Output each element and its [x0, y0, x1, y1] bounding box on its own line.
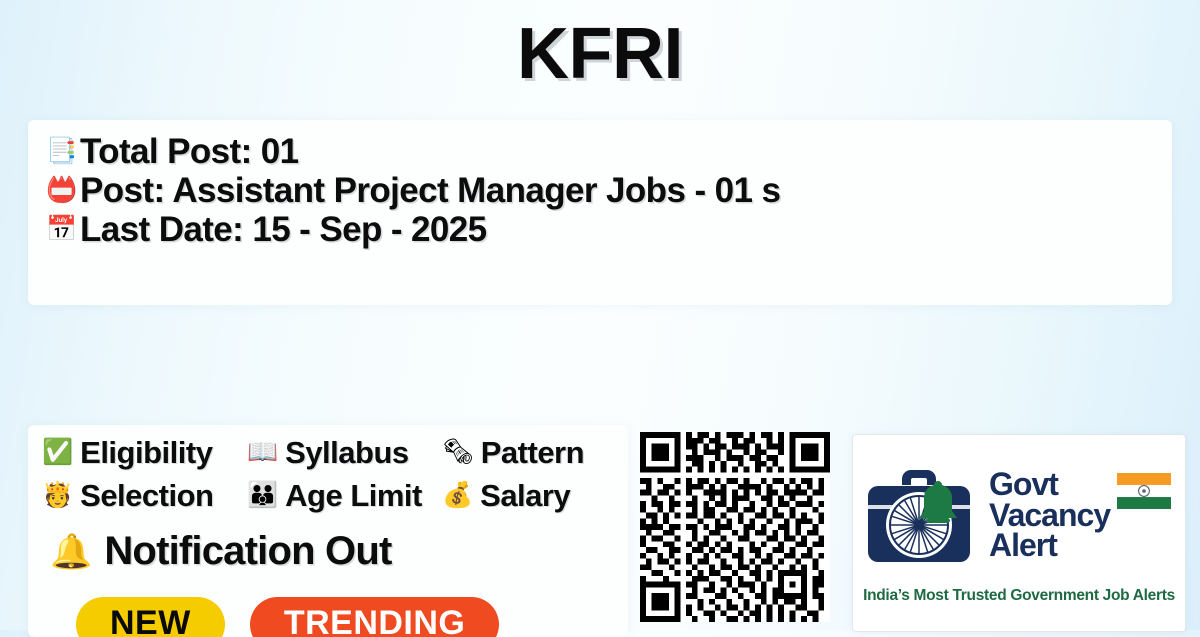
list-item: 📑 Total Post: 01 [46, 132, 1172, 171]
feature-selection: 🫅 Selection [42, 478, 247, 514]
feature-salary: 💰 Salary [442, 478, 584, 514]
post-name-text: Post: Assistant Project Manager Jobs - 0… [80, 171, 780, 211]
qr-code[interactable] [640, 432, 830, 622]
logo-wordmark-block: Govt Vacancy Alert [989, 469, 1185, 561]
logo-line-1: Govt [989, 469, 1110, 500]
logo-line-2: Vacancy [989, 500, 1110, 531]
feature-label: Syllabus [285, 435, 409, 471]
calendar-icon: 📅 [46, 217, 80, 242]
feature-age-limit: 👪 Age Limit [247, 478, 442, 514]
feature-label: Eligibility [80, 435, 212, 471]
notification-out-row: 🔔 Notification Out [50, 529, 392, 574]
qr-code-graphic [640, 432, 830, 622]
total-post-text: Total Post: 01 [80, 132, 299, 172]
briefcase-chakra-bell-icon [853, 459, 989, 571]
check-mark-icon: ✅ [42, 440, 73, 465]
job-detail-list: 📑 Total Post: 01 📛 Post: Assistant Proje… [46, 132, 1172, 249]
logo-wordmark: Govt Vacancy Alert [989, 469, 1110, 561]
logo-tagline: India’s Most Trusted Government Job Aler… [853, 587, 1185, 605]
badge-row: NEW TRENDING [76, 597, 499, 637]
bell-notification-icon: 🔔 [50, 535, 92, 569]
page-title-wrapper: KFRI [0, 18, 1200, 90]
notification-out-label: Notification Out [104, 529, 391, 574]
exam-paper-icon: 🗞 [442, 440, 474, 465]
new-badge[interactable]: NEW [76, 597, 225, 637]
list-item: 📛 Post: Assistant Project Manager Jobs -… [46, 171, 1172, 210]
job-summary-card: 📑 Total Post: 01 📛 Post: Assistant Proje… [28, 120, 1172, 305]
red-seal-badge-icon: 📛 [46, 178, 80, 203]
feature-label: Age Limit [285, 478, 422, 514]
feature-label: Salary [480, 478, 570, 514]
job-search-document-icon: 📑 [46, 139, 80, 164]
hand-picking-person-icon: 🫅 [42, 483, 73, 508]
features-card: ✅ Eligibility 📖 Syllabus 🗞 Pattern 🫅 Sel… [28, 425, 628, 637]
feature-label: Pattern [481, 435, 584, 471]
brand-logo-card: Govt Vacancy Alert India’s Most Trusted … [852, 434, 1186, 632]
india-flag-icon [1116, 473, 1172, 509]
feature-pattern: 🗞 Pattern [442, 435, 584, 471]
logo-mark-graphic [862, 459, 980, 571]
last-date-text: Last Date: 15 - Sep - 2025 [80, 210, 487, 250]
logo-line-3: Alert [989, 530, 1110, 561]
feature-eligibility: ✅ Eligibility [42, 435, 247, 471]
list-item: 📅 Last Date: 15 - Sep - 2025 [46, 210, 1172, 249]
poster-root: KFRI 📑 Total Post: 01 📛 Post: Assistant … [0, 0, 1200, 630]
feature-grid: ✅ Eligibility 📖 Syllabus 🗞 Pattern 🫅 Sel… [42, 431, 584, 517]
feature-syllabus: 📖 Syllabus [247, 435, 442, 471]
page-title: KFRI [517, 18, 683, 90]
logo-main: Govt Vacancy Alert [853, 441, 1185, 589]
open-book-pencil-icon: 📖 [247, 440, 278, 465]
feature-label: Selection [80, 478, 213, 514]
trending-badge[interactable]: TRENDING [250, 597, 500, 637]
money-bag-hand-icon: 💰 [442, 483, 473, 508]
family-people-icon: 👪 [247, 483, 278, 508]
